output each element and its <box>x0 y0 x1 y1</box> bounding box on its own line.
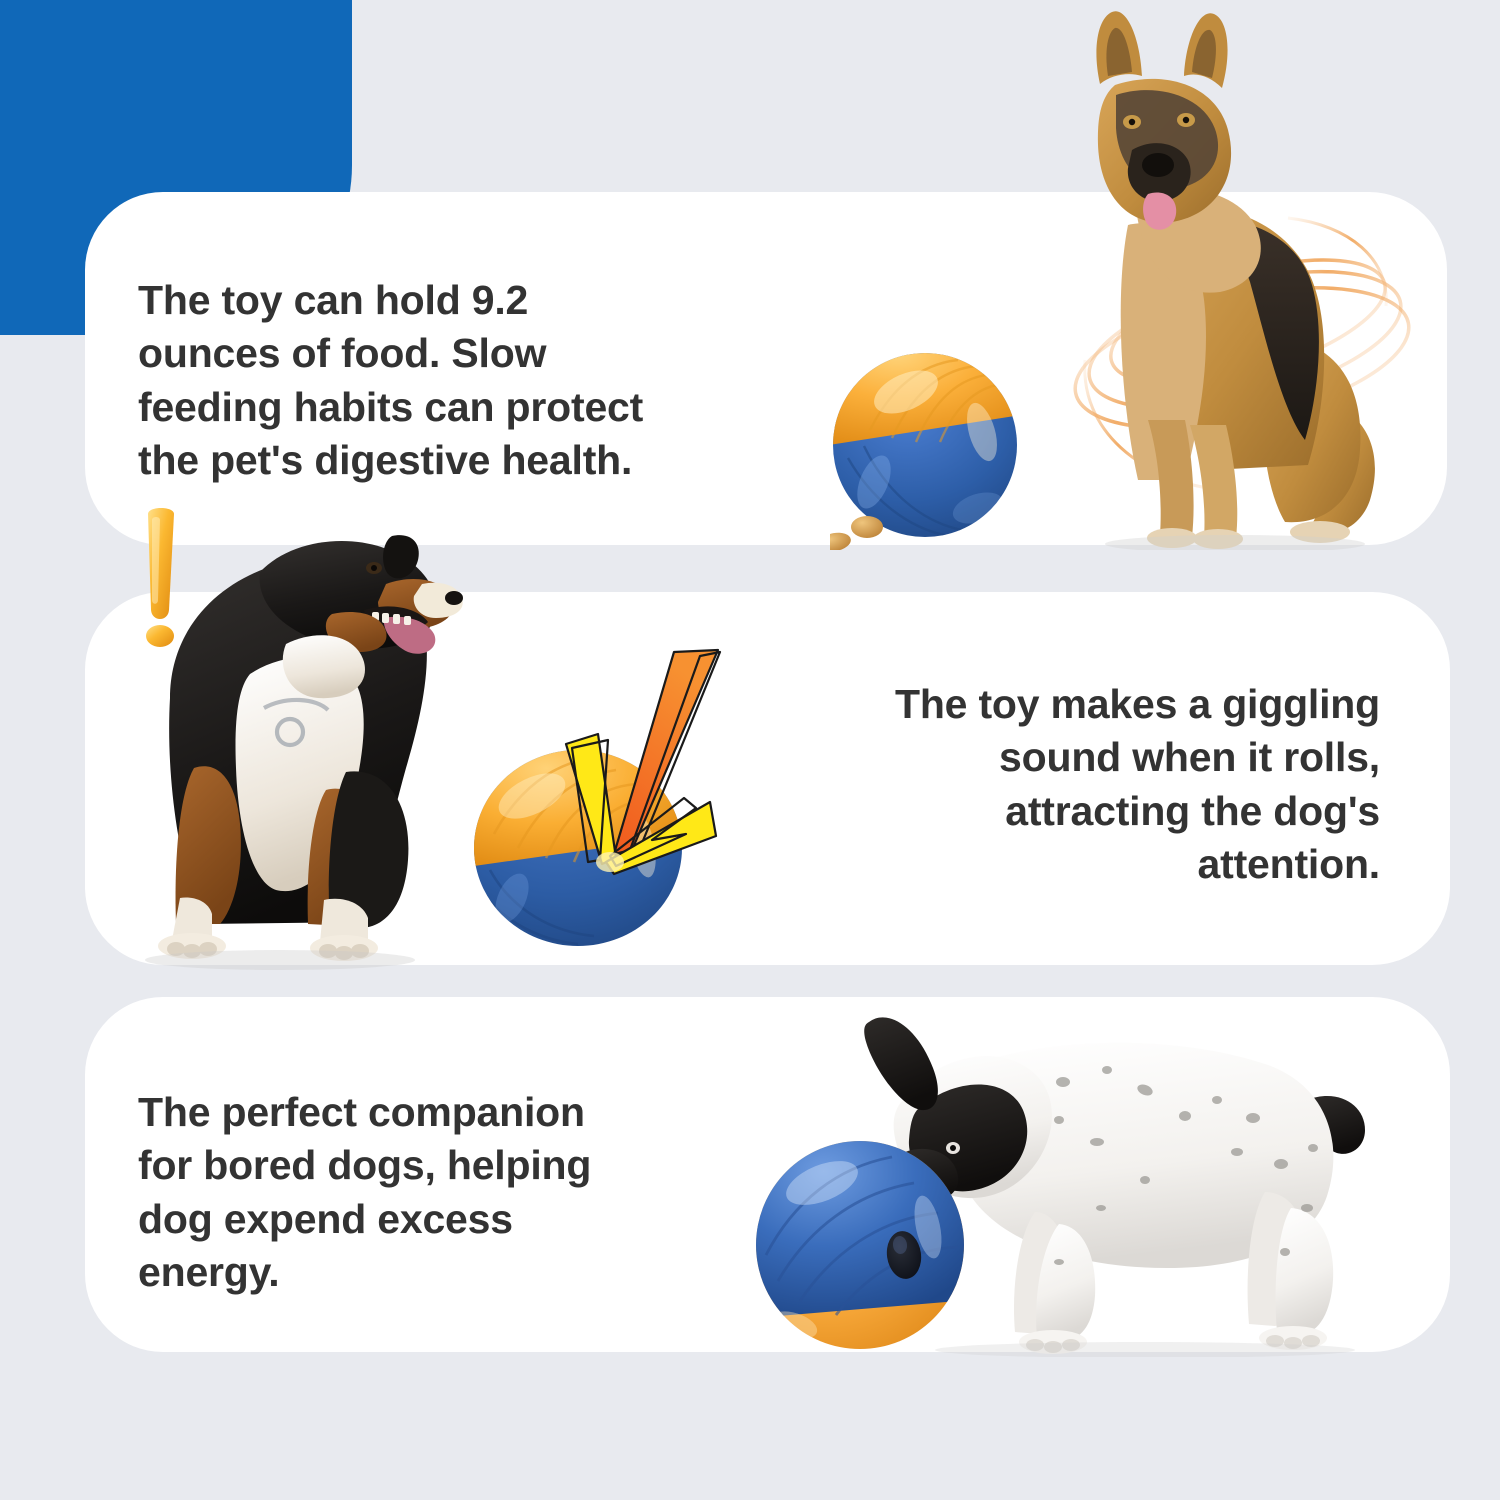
feature-3-text: The perfect companion for bored dogs, he… <box>138 1086 698 1299</box>
feature-1-text: The toy can hold 9.2 ounces of food. Slo… <box>138 274 748 487</box>
infographic-canvas: The toy can hold 9.2 ounces of food. Slo… <box>0 0 1500 1500</box>
feature-2-text: The toy makes a giggling sound when it r… <box>770 678 1380 891</box>
